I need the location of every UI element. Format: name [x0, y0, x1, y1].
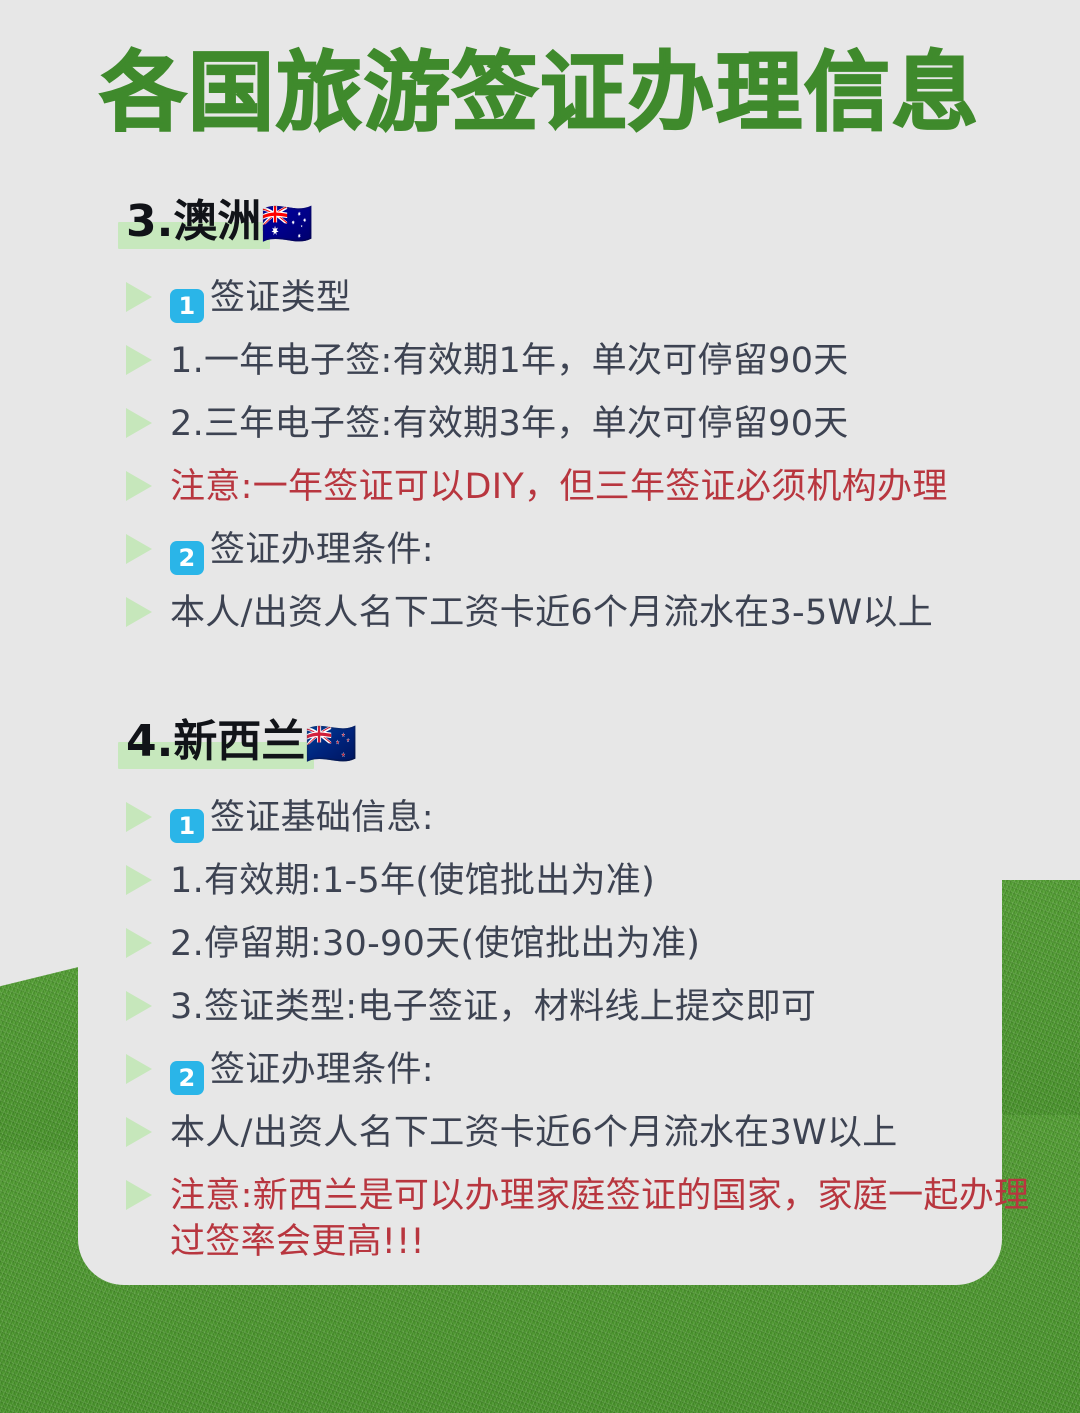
triangle-bullet-icon — [118, 991, 160, 1021]
list-item-text: 2.停留期:30-90天(使馆批出为准) — [170, 919, 1040, 967]
keycap-two-icon: 2 — [170, 541, 204, 575]
list-item: 本人/出资人名下工资卡近6个月流水在3-5W以上 — [118, 588, 1040, 644]
triangle-bullet-icon — [118, 865, 160, 895]
list-item-text: 2签证办理条件: — [170, 525, 1040, 575]
triangle-bullet-icon — [118, 1180, 160, 1210]
triangle-bullet-icon — [118, 1054, 160, 1084]
list-item: 本人/出资人名下工资卡近6个月流水在3W以上 — [118, 1108, 1040, 1164]
note-text: 注意:一年签证可以DIY，但三年签证必须机构办理 — [170, 462, 1040, 510]
triangle-bullet-icon — [118, 597, 160, 627]
section-heading-label: 3.澳洲 — [126, 196, 261, 247]
triangle-bullet-icon — [118, 282, 160, 312]
triangle-bullet-icon — [118, 928, 160, 958]
list-item: 2.停留期:30-90天(使馆批出为准) — [118, 919, 1040, 975]
list-item-text: 1签证类型 — [170, 273, 1040, 323]
list-item-text: 2签证办理条件: — [170, 1045, 1040, 1095]
triangle-bullet-icon — [118, 345, 160, 375]
new-zealand-flag-emoji: 🇳🇿 — [305, 719, 357, 768]
list-item-text: 本人/出资人名下工资卡近6个月流水在3W以上 — [170, 1108, 1040, 1156]
list-item-text: 1.有效期:1-5年(使馆批出为准) — [170, 856, 1040, 904]
keycap-one-icon: 1 — [170, 289, 204, 323]
list-item-label: 签证办理条件: — [210, 530, 434, 570]
keycap-two-icon: 2 — [170, 1061, 204, 1095]
list-item-text: 1签证基础信息: — [170, 793, 1040, 843]
section-australia: 3.澳洲🇦🇺 1签证类型 1.一年电子签:有效期1年，单次可停留90天 2.三年… — [118, 196, 1040, 651]
list-item: 1签证类型 — [118, 273, 1040, 329]
list-item: 2签证办理条件: — [118, 525, 1040, 581]
page-title: 各国旅游签证办理信息 — [0, 44, 1080, 143]
list-item-label: 签证类型 — [210, 278, 351, 318]
list-item-note: 注意:一年签证可以DIY，但三年签证必须机构办理 — [118, 462, 1040, 518]
list-new-zealand: 1签证基础信息: 1.有效期:1-5年(使馆批出为准) 2.停留期:30-90天… — [118, 793, 1040, 1265]
keycap-one-icon: 1 — [170, 809, 204, 843]
list-item-text: 1.一年电子签:有效期1年，单次可停留90天 — [170, 336, 1040, 384]
list-item-text: 2.三年电子签:有效期3年，单次可停留90天 — [170, 399, 1040, 447]
australia-flag-emoji: 🇦🇺 — [261, 199, 313, 248]
list-australia: 1签证类型 1.一年电子签:有效期1年，单次可停留90天 2.三年电子签:有效期… — [118, 273, 1040, 644]
triangle-bullet-icon — [118, 1117, 160, 1147]
section-heading-australia: 3.澳洲🇦🇺 — [118, 196, 316, 251]
triangle-bullet-icon — [118, 471, 160, 501]
list-item: 1.一年电子签:有效期1年，单次可停留90天 — [118, 336, 1040, 392]
list-item: 2.三年电子签:有效期3年，单次可停留90天 — [118, 399, 1040, 455]
triangle-bullet-icon — [118, 534, 160, 564]
section-heading-new-zealand: 4.新西兰🇳🇿 — [118, 716, 360, 771]
poster-content: 各国旅游签证办理信息 3.澳洲🇦🇺 1签证类型 1.一年电子签:有效期1年，单次… — [0, 0, 1080, 1413]
triangle-bullet-icon — [118, 802, 160, 832]
list-item: 1签证基础信息: — [118, 793, 1040, 849]
list-item: 2签证办理条件: — [118, 1045, 1040, 1101]
triangle-bullet-icon — [118, 408, 160, 438]
section-heading-label: 4.新西兰 — [126, 716, 305, 767]
list-item-note: 注意:新西兰是可以办理家庭签证的国家，家庭一起办理过签率会更高!!! — [118, 1171, 1040, 1265]
note-text: 注意:新西兰是可以办理家庭签证的国家，家庭一起办理过签率会更高!!! — [170, 1171, 1040, 1265]
list-item-text: 3.签证类型:电子签证，材料线上提交即可 — [170, 982, 1040, 1030]
list-item: 1.有效期:1-5年(使馆批出为准) — [118, 856, 1040, 912]
list-item-label: 签证基础信息: — [210, 798, 434, 838]
list-item-text: 本人/出资人名下工资卡近6个月流水在3-5W以上 — [170, 588, 1040, 636]
section-new-zealand: 4.新西兰🇳🇿 1签证基础信息: 1.有效期:1-5年(使馆批出为准) 2.停留… — [118, 716, 1040, 1272]
list-item: 3.签证类型:电子签证，材料线上提交即可 — [118, 982, 1040, 1038]
list-item-label: 签证办理条件: — [210, 1050, 434, 1090]
